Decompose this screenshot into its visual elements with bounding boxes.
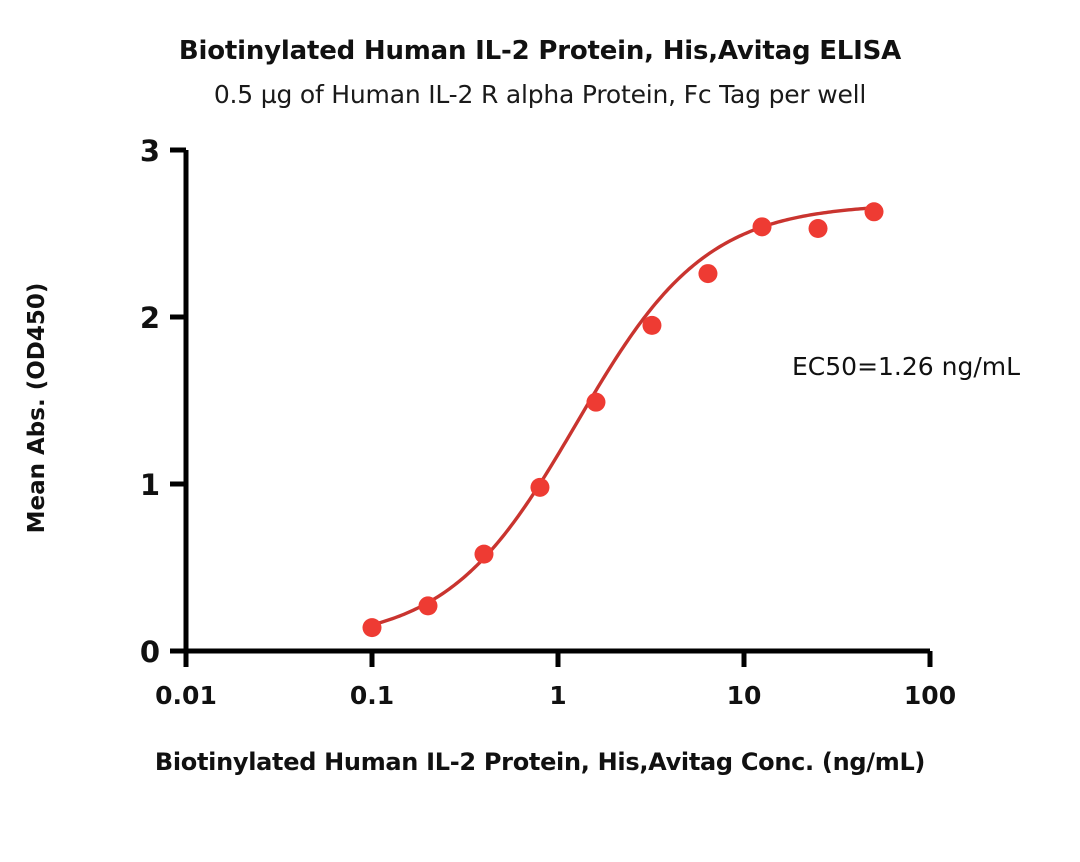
data-point-2 (474, 545, 493, 564)
y-tick-label-3: 3 (140, 134, 160, 168)
fit-curve-path (372, 208, 874, 625)
x-tick-label-0: 0.01 (155, 681, 217, 710)
plot-area: 0.010.1110100 0123 (0, 0, 1080, 862)
data-point-0 (363, 618, 382, 637)
y-tick-label-0: 0 (140, 635, 160, 669)
x-tick-label-4: 100 (904, 681, 956, 710)
fit-curve (372, 208, 874, 625)
data-point-7 (753, 217, 772, 236)
ec50-annotation: EC50=1.26 ng/mL (792, 352, 1020, 381)
data-point-3 (530, 478, 549, 497)
y-axis-label: Mean Abs. (OD450) (24, 258, 50, 558)
x-tick-label-3: 10 (727, 681, 762, 710)
data-point-5 (642, 316, 661, 335)
y-tick-labels: 0123 (140, 134, 160, 669)
x-axis-label: Biotinylated Human IL-2 Protein, His,Avi… (0, 748, 1080, 776)
data-point-6 (698, 264, 717, 283)
chart-figure: Biotinylated Human IL-2 Protein, His,Avi… (0, 0, 1080, 862)
data-points (363, 202, 884, 637)
data-point-4 (586, 393, 605, 412)
x-tick-label-2: 1 (549, 681, 566, 710)
data-point-1 (418, 596, 437, 615)
x-tick-label-1: 0.1 (350, 681, 394, 710)
data-point-9 (865, 202, 884, 221)
x-tick-labels: 0.010.1110100 (155, 681, 956, 710)
y-tick-label-1: 1 (140, 468, 160, 502)
y-tick-label-2: 2 (140, 301, 160, 335)
data-point-8 (809, 219, 828, 238)
